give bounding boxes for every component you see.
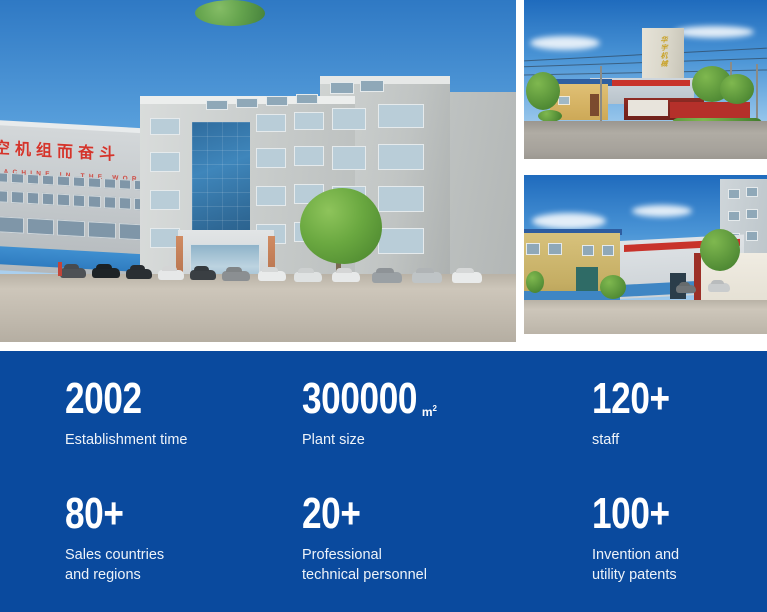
cloud bbox=[530, 36, 600, 50]
utility-pole bbox=[600, 66, 602, 122]
office-building-right-block bbox=[440, 92, 516, 282]
stat-value-wrap: 120+ bbox=[592, 377, 689, 421]
tree-crown-top bbox=[195, 0, 265, 26]
photo-factory-workshop-yard[interactable] bbox=[524, 175, 767, 342]
parked-car bbox=[708, 283, 730, 292]
guard-house-window bbox=[558, 96, 570, 105]
cloud bbox=[632, 205, 692, 217]
company-profile-page: 空机组而奋斗 MACHINE IN THE WORLD bbox=[0, 0, 767, 612]
stat-label: Sales countries and regions bbox=[65, 545, 302, 585]
stat-value: 80+ bbox=[65, 492, 124, 536]
cloud bbox=[674, 26, 754, 38]
entrance-sign-board-red bbox=[670, 102, 750, 118]
photo-factory-main-office-building[interactable]: 空机组而奋斗 MACHINE IN THE WORLD bbox=[0, 0, 516, 342]
stat-staff: 120+ staff bbox=[592, 377, 689, 450]
stat-value: 20+ bbox=[302, 492, 361, 536]
stat-label: Plant size bbox=[302, 430, 592, 450]
stat-unit-exponent: 2 bbox=[433, 404, 437, 413]
stat-value: 300000 bbox=[302, 377, 417, 421]
stat-sales-countries: 80+ Sales countries and regions bbox=[65, 492, 302, 585]
stat-value: 120+ bbox=[592, 377, 670, 421]
stat-value: 2002 bbox=[65, 377, 142, 421]
stat-value-wrap: 2002 bbox=[65, 377, 302, 421]
photo-bottom-margin bbox=[524, 334, 767, 342]
stat-value-wrap: 100+ bbox=[592, 492, 689, 536]
cloud bbox=[532, 213, 606, 229]
stat-unit: m2 bbox=[422, 403, 437, 418]
parking-lot-ground bbox=[0, 274, 516, 342]
stats-row-1: 2002 Establishment time 300000 m2 Plant … bbox=[65, 377, 743, 450]
stat-value: 100+ bbox=[592, 492, 670, 536]
stat-establishment-time: 2002 Establishment time bbox=[65, 377, 302, 450]
photo-gallery: 空机组而奋斗 MACHINE IN THE WORLD bbox=[0, 0, 767, 342]
utility-pole bbox=[756, 64, 758, 118]
stat-label: Invention and utility patents bbox=[592, 545, 689, 585]
entrance-sign-board-white bbox=[628, 100, 668, 116]
stat-plant-size: 300000 m2 Plant size bbox=[302, 377, 592, 450]
shrub bbox=[600, 275, 626, 299]
tower-vertical-sign: 华宇机械 bbox=[659, 36, 667, 68]
stats-row-2: 80+ Sales countries and regions 20+ Prof… bbox=[65, 492, 743, 585]
stat-value-wrap: 80+ bbox=[65, 492, 302, 536]
parked-car bbox=[676, 285, 696, 293]
stat-value-wrap: 20+ bbox=[302, 492, 592, 536]
pedestrian bbox=[58, 262, 62, 276]
guard-house-door bbox=[590, 94, 599, 116]
stat-patents: 100+ Invention and utility patents bbox=[592, 492, 689, 585]
tree bbox=[700, 229, 740, 271]
stat-label: staff bbox=[592, 430, 689, 450]
tree bbox=[720, 74, 754, 104]
stat-label: Professional technical personnel bbox=[302, 545, 592, 585]
tree-crown bbox=[300, 188, 382, 264]
shrub bbox=[526, 271, 544, 293]
stats-grid: 2002 Establishment time 300000 m2 Plant … bbox=[65, 377, 743, 585]
tree bbox=[526, 72, 560, 110]
stat-label: Establishment time bbox=[65, 430, 302, 450]
photo-factory-entrance-gate[interactable]: 华宇机械 bbox=[524, 0, 767, 169]
stat-technical-personnel: 20+ Professional technical personnel bbox=[302, 492, 592, 585]
stat-unit-base: m bbox=[422, 405, 433, 419]
stat-value-wrap: 300000 m2 bbox=[302, 377, 592, 421]
company-stats-panel: 2002 Establishment time 300000 m2 Plant … bbox=[0, 351, 767, 612]
photo-bottom-margin bbox=[524, 159, 767, 169]
